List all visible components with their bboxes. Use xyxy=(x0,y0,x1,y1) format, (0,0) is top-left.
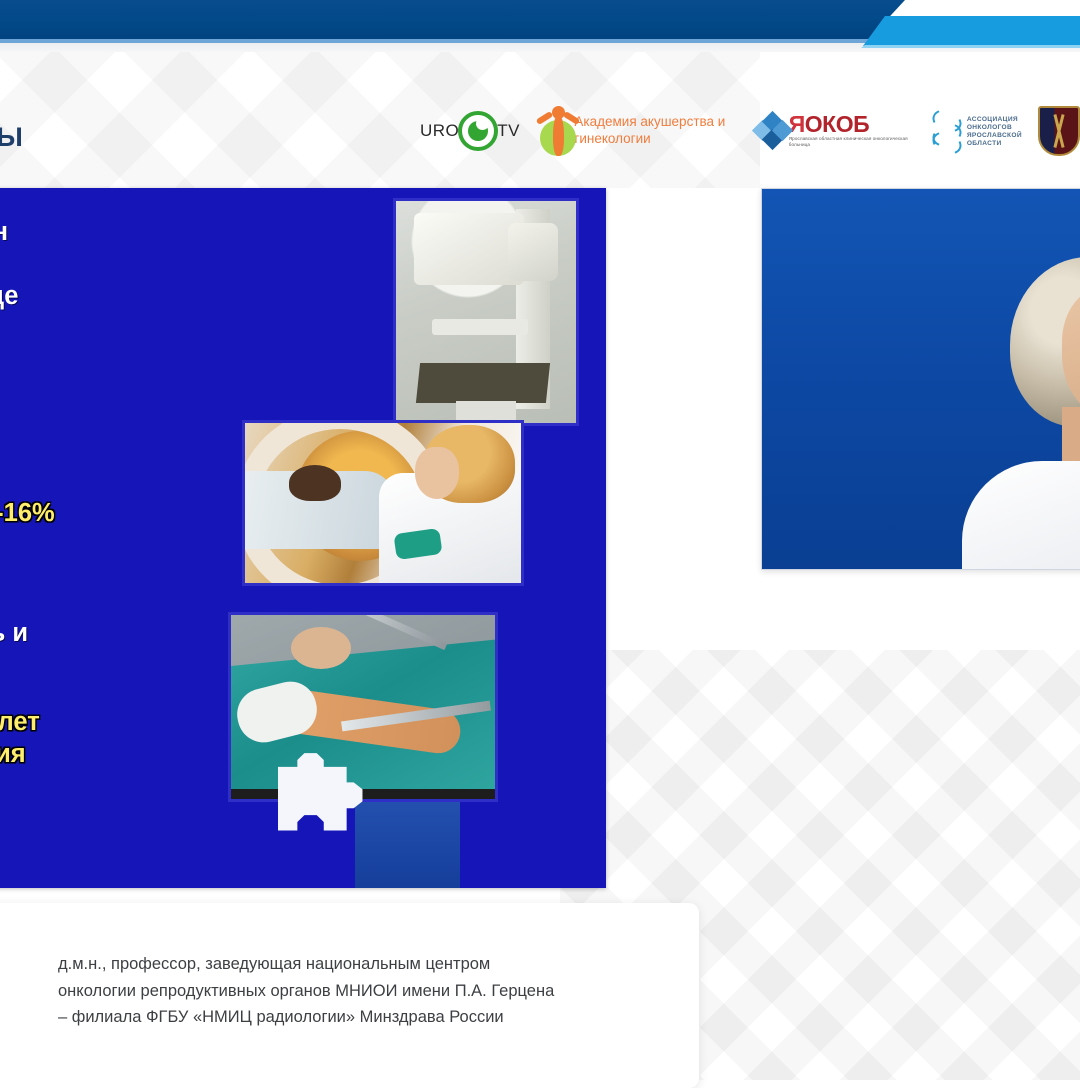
caption-line-2: онкологии репродуктивных органов МНИОИ и… xyxy=(58,978,658,1005)
top-navy-banner-bar xyxy=(0,0,905,40)
crest-shield-icon xyxy=(1038,106,1080,156)
association-logo-line1: АССОЦИАЦИЯ xyxy=(967,116,1022,123)
presentation-slide[interactable]: и разработан по борьбе с еваниями, где о… xyxy=(0,188,606,888)
urotv-logo-text-left: URO xyxy=(420,121,459,141)
academy-logo-caption: Академия акушерства и гинекологии xyxy=(574,114,739,148)
slide-line-2: по борьбе с xyxy=(0,248,260,280)
slide-p2-highlight-1: формы рака xyxy=(0,465,260,497)
sponsor-logo-strip: URO TV Академия акушерства и гинекологии… xyxy=(420,100,1080,162)
top-navy-banner-underline xyxy=(0,39,872,43)
top-lightblue-banner-glow xyxy=(861,45,1080,48)
slide-p2-highlight-2: % вместо 13-16% xyxy=(0,497,260,529)
urotv-logo: URO TV xyxy=(420,111,520,151)
slide-line-4: ой железы xyxy=(0,312,260,344)
slide-p3-line-3: ы. xyxy=(0,650,260,682)
slide-p4-highlight-3: и на 18,4%. xyxy=(0,770,260,802)
slide-p2-line-1: благодаря xyxy=(0,401,260,433)
yaokob-logo: ЯОКОБ Ярославская областная клиническая … xyxy=(755,114,916,148)
urotv-logo-text-right: TV xyxy=(497,121,520,141)
academy-figure-icon xyxy=(536,106,567,156)
academy-logo: Академия акушерства и гинекологии xyxy=(536,106,739,156)
slide-p4-highlight-2: ная тенденция xyxy=(0,738,260,770)
speaker-video-feed[interactable] xyxy=(761,188,1080,570)
slide-p3-line-1: ечение, xyxy=(0,585,260,617)
association-logo: АССОЦИАЦИЯ ОНКОЛОГОВ ЯРОСЛАВСКОЙ ОБЛАСТИ xyxy=(932,111,1022,151)
mri-procedure-photo xyxy=(242,420,524,586)
dna-helix-icon xyxy=(932,111,962,151)
yaokob-logo-word-rest: ОКОБ xyxy=(805,111,869,137)
association-logo-line4: ОБЛАСТИ xyxy=(967,140,1022,147)
slide-p2-tail: ляет xyxy=(0,529,260,561)
surgery-procedure-photo xyxy=(228,612,498,802)
caption-line-3: – филиала ФГБУ «НМИЦ радиологии» Минздра… xyxy=(58,1004,658,1031)
slide-p4-highlight-1: ервые за 10 лет xyxy=(0,706,260,738)
association-logo-line3: ЯРОСЛАВСКОЙ xyxy=(967,132,1022,139)
speaker-caption-card: д.м.н., профессор, заведующая национальн… xyxy=(0,903,699,1088)
yaokob-logo-subtitle: Ярославская областная клиническая онколо… xyxy=(789,136,916,148)
mammography-machine-photo xyxy=(393,198,579,426)
urotv-logo-ring-icon xyxy=(458,111,498,151)
slide-p2-line-2: дрению xyxy=(0,433,260,465)
yaokob-logo-word-first: Я xyxy=(789,111,805,137)
slide-line-1: и разработан xyxy=(0,216,260,248)
speaker-caption-text: д.м.н., профессор, заведующая национальн… xyxy=(58,951,658,1031)
page-title: Й СИСТЕМЫ xyxy=(0,122,23,153)
crest-logo xyxy=(1038,106,1080,156)
slide-p3-line-2: жительность и xyxy=(0,617,260,649)
yaokob-diamond-icon xyxy=(755,114,786,148)
slide-line-5: вных мест . xyxy=(0,345,260,377)
association-logo-line2: ОНКОЛОГОВ xyxy=(967,124,1022,131)
slide-line-3: еваниями, где xyxy=(0,280,260,312)
yaokob-logo-word: ЯОКОБ xyxy=(789,114,916,136)
caption-line-1: д.м.н., профессор, заведующая национальн… xyxy=(58,951,658,978)
top-lightblue-banner-bar xyxy=(863,16,1080,46)
speaker-shoulders xyxy=(962,461,1080,570)
slide-body-text: и разработан по борьбе с еваниями, где о… xyxy=(0,216,260,802)
